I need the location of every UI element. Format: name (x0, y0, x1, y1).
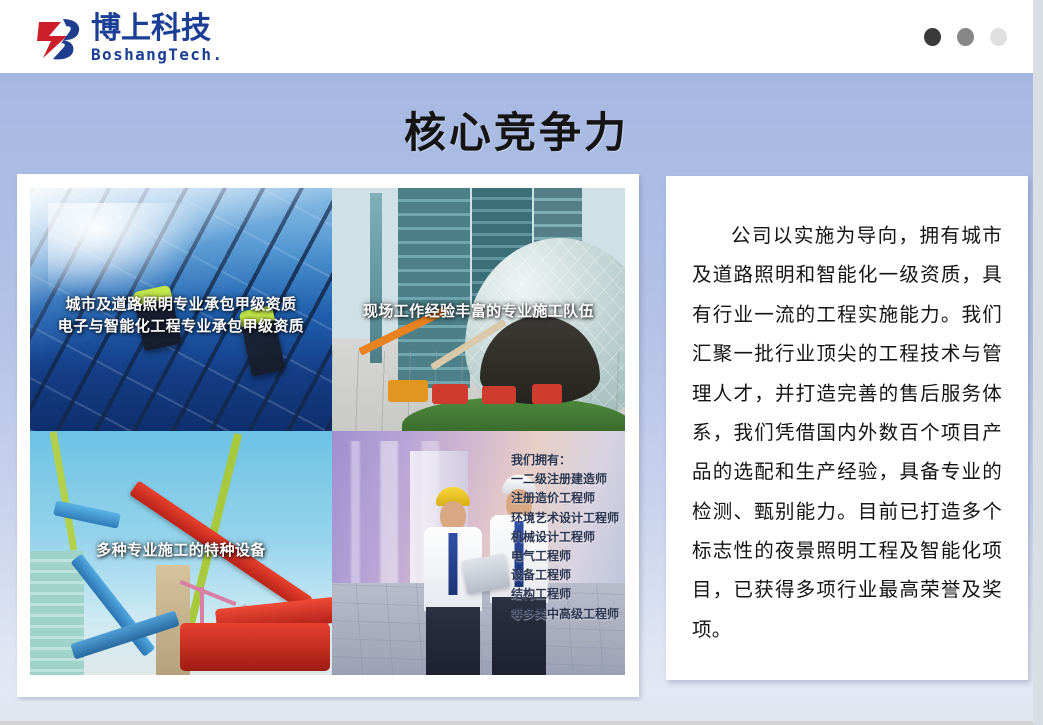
collage-cell-certification[interactable]: 城市及道路照明专业承包甲级资质 电子与智能化工程专业承包甲级资质 (30, 188, 332, 431)
dot-light-icon[interactable] (990, 28, 1007, 46)
necktie-shape (449, 533, 458, 595)
brand-logo[interactable]: 博上科技 BoshangTech. (37, 14, 223, 63)
credential-item: 环境艺术设计工程师 (511, 509, 619, 528)
collage-cell-equipment[interactable]: 多种专业施工的特种设备 (30, 431, 332, 675)
lift-vehicle-icon (482, 386, 516, 404)
page-title: 核心竞争力 (0, 99, 1033, 160)
credential-item: 电气工程师 (511, 547, 619, 566)
credentials-list: 我们拥有： 一二级注册建造师 注册造价工程师 环境艺术设计工程师 机械设计工程师… (511, 451, 619, 624)
blue-lift-icon (53, 500, 121, 528)
collage-cell-engineers[interactable]: 我们拥有： 一二级注册建造师 注册造价工程师 环境艺术设计工程师 机械设计工程师… (332, 431, 625, 675)
description-paragraph: 公司以实施为导向，拥有城市及道路照明和智能化一级资质，具有行业一流的工程实施能力… (692, 216, 1002, 649)
construction-site-image (332, 188, 625, 431)
credential-item: 等多类中高级工程师 (511, 605, 619, 624)
credential-item: 设备工程师 (511, 566, 619, 585)
brand-name-en: BoshangTech. (91, 47, 223, 63)
glass-facade-image (30, 188, 332, 431)
page-header: 博上科技 BoshangTech. (0, 0, 1033, 73)
special-equipment-image (30, 431, 332, 675)
slide-root: 博上科技 BoshangTech. 核心竞争力 城市及道路照明专业承包甲级资质 … (0, 0, 1043, 725)
crane-mast-icon (50, 431, 78, 550)
credential-item: 结构工程师 (511, 585, 619, 604)
credential-item: 注册造价工程师 (511, 489, 619, 508)
lift-vehicle-icon (432, 384, 468, 404)
credential-item: 机械设计工程师 (511, 528, 619, 547)
lift-vehicle-icon (532, 384, 562, 404)
red-lift-chassis-icon (180, 623, 330, 671)
image-collage-grid: 城市及道路照明专业承包甲级资质 电子与智能化工程专业承包甲级资质 (30, 188, 626, 675)
brand-name-cn: 博上科技 (91, 14, 223, 44)
collage-cell-team[interactable]: 现场工作经验丰富的专业施工队伍 (332, 188, 625, 431)
right-edge-strip (1033, 0, 1043, 725)
credentials-heading: 我们拥有： (511, 451, 619, 470)
window-dots[interactable] (924, 28, 1007, 46)
bottom-edge-strip (0, 701, 1043, 725)
trousers-shape (426, 607, 480, 675)
dot-dark-icon[interactable] (924, 28, 941, 46)
image-collage-card: 城市及道路照明专业承包甲级资质 电子与智能化工程专业承包甲级资质 (17, 174, 639, 697)
credential-item: 一二级注册建造师 (511, 470, 619, 489)
boshang-b-logo-icon (37, 17, 83, 61)
description-card: 公司以实施为导向，拥有城市及道路照明和智能化一级资质，具有行业一流的工程实施能力… (666, 176, 1028, 680)
brand-wordmark: 博上科技 BoshangTech. (91, 14, 223, 63)
dot-mid-icon[interactable] (957, 28, 974, 46)
lift-vehicle-icon (388, 380, 428, 402)
